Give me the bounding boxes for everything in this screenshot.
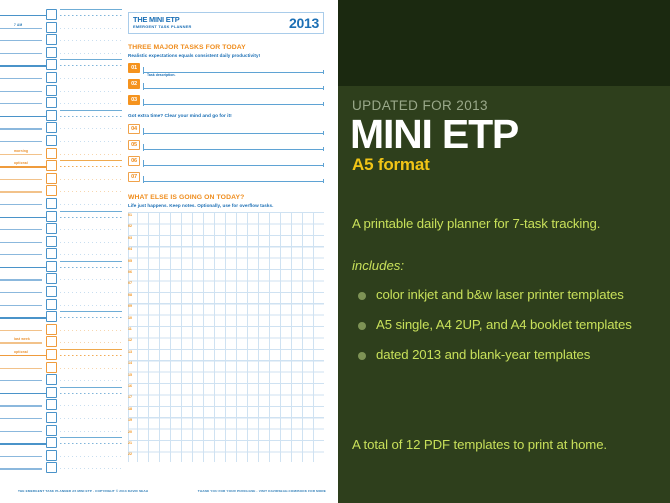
time-row	[0, 86, 122, 99]
time-dash-line	[60, 229, 122, 230]
time-checkbox[interactable]	[46, 336, 57, 347]
time-tick	[0, 217, 48, 218]
time-tick	[0, 342, 42, 343]
time-tick	[0, 405, 42, 406]
time-tick	[0, 65, 48, 66]
time-dash-line	[60, 431, 122, 432]
time-checkbox[interactable]	[46, 110, 57, 121]
task-write-line[interactable]	[143, 88, 324, 89]
time-row	[0, 35, 122, 48]
grid-line-number: 12	[128, 338, 132, 342]
time-tick	[0, 78, 42, 79]
time-tick	[0, 317, 48, 318]
time-checkbox[interactable]	[46, 211, 57, 222]
time-row	[0, 388, 122, 401]
time-tick	[0, 443, 48, 444]
time-dash-line	[60, 393, 122, 394]
time-tick	[0, 431, 42, 432]
time-tick	[0, 53, 42, 54]
feature-list-item: dated 2013 and blank-year templates	[352, 346, 658, 363]
grid-line-number: 11	[128, 327, 132, 331]
time-dash-line	[60, 330, 122, 331]
time-checkbox[interactable]	[46, 148, 57, 159]
grid-line-number: 05	[128, 259, 132, 263]
time-dash-line	[60, 380, 122, 381]
time-hour-rule	[60, 110, 122, 111]
time-tick	[0, 418, 42, 419]
feature-list-item-label: A5 single, A4 2UP, and A4 booklet templa…	[376, 316, 658, 333]
time-row	[0, 451, 122, 464]
time-row-label: morning	[14, 149, 28, 153]
time-row	[0, 174, 122, 187]
time-checkbox[interactable]	[46, 72, 57, 83]
time-dash-line	[60, 103, 122, 104]
task-number: 05	[128, 140, 140, 150]
time-checkbox[interactable]	[46, 223, 57, 234]
time-dash-line	[60, 78, 122, 79]
time-tick	[0, 368, 42, 369]
task-row: 05	[128, 140, 324, 156]
task-write-line[interactable]	[143, 104, 324, 105]
task-row: 06	[128, 156, 324, 172]
time-checkbox[interactable]	[46, 374, 57, 385]
time-tick	[0, 191, 42, 192]
time-row	[0, 224, 122, 237]
time-row-label: 7 AM	[14, 23, 22, 27]
time-row-label: optional	[14, 350, 28, 354]
time-dash-line	[60, 443, 122, 444]
time-checkbox[interactable]	[46, 34, 57, 45]
time-row	[0, 312, 122, 325]
task-row: 04	[128, 124, 324, 140]
time-tick	[0, 330, 42, 331]
notes-subheading: Life just happens. Keep notes. Optionall…	[128, 203, 324, 209]
time-row	[0, 123, 122, 136]
time-tick	[0, 242, 42, 243]
notes-heading-group: WHAT ELSE IS GOING ON TODAY? Life just h…	[128, 194, 324, 209]
time-dash-line	[60, 91, 122, 92]
time-row	[0, 10, 122, 23]
time-dash-line	[60, 342, 122, 343]
time-tick	[0, 380, 42, 381]
task-row: 07	[128, 172, 324, 188]
time-dash-line	[60, 217, 122, 218]
time-tick	[0, 292, 42, 293]
task-row: 01Task description.	[128, 63, 324, 79]
time-checkbox[interactable]	[46, 286, 57, 297]
time-checkbox[interactable]	[46, 425, 57, 436]
time-row	[0, 438, 122, 451]
time-checkbox[interactable]	[46, 135, 57, 146]
time-row	[0, 400, 122, 413]
time-dash-line	[60, 15, 122, 16]
time-dash-line	[60, 128, 122, 129]
time-dash-line	[60, 179, 122, 180]
time-dash-line	[60, 65, 122, 66]
time-dash-line	[60, 204, 122, 205]
time-checkbox[interactable]	[46, 450, 57, 461]
time-row-label: optional	[14, 161, 28, 165]
task-number: 01	[128, 63, 140, 73]
feature-list-item: A5 single, A4 2UP, and A4 booklet templa…	[352, 316, 658, 333]
task-number: 02	[128, 79, 140, 89]
extra-time-note: Got extra time? Clear your mind and go f…	[128, 114, 324, 120]
time-dash-line	[60, 355, 122, 356]
screenshot-root: 7 AMmorningoptionallast weekoptional THE…	[0, 0, 670, 503]
bullet-dot-icon	[358, 322, 366, 330]
panel-tagline: A printable daily planner for 7-task tra…	[352, 216, 600, 231]
planner-task-column: THE MINI ETP EMERGENT TASK PLANNER 2013 …	[128, 12, 324, 462]
time-hour-rule	[60, 261, 122, 262]
time-checkbox[interactable]	[46, 311, 57, 322]
time-tick	[0, 254, 42, 255]
major-tasks-heading-group: THREE MAJOR TASKS FOR TODAY Realistic ex…	[128, 44, 324, 59]
time-hour-rule	[60, 9, 122, 10]
time-tick	[0, 166, 48, 167]
time-tick	[0, 15, 48, 16]
time-tick	[0, 128, 42, 129]
grid-line-number: 16	[128, 384, 132, 388]
time-checkbox[interactable]	[46, 261, 57, 272]
panel-top-band	[338, 0, 670, 86]
time-tick	[0, 28, 42, 29]
time-dash-line	[60, 254, 122, 255]
time-row	[0, 136, 122, 149]
time-hour-rule	[60, 387, 122, 388]
time-checkbox[interactable]	[46, 59, 57, 70]
time-dash-line	[60, 317, 122, 318]
time-checkbox-column: 7 AMmorningoptionallast weekoptional	[0, 10, 122, 488]
time-hour-rule	[60, 59, 122, 60]
panel-includes-label: includes:	[352, 258, 404, 273]
planner-footer-right: THANK YOU FOR YOUR PURCHASE · VISIT DAVI…	[198, 489, 326, 493]
notes-dot-grid: 0102030405060708091011121314151617181920…	[128, 212, 324, 462]
time-tick	[0, 393, 48, 394]
major-tasks-heading: THREE MAJOR TASKS FOR TODAY	[128, 44, 324, 52]
time-dash-line	[60, 40, 122, 41]
panel-title: MINI ETP	[350, 112, 518, 156]
time-checkbox[interactable]	[46, 387, 57, 398]
time-checkbox[interactable]	[46, 324, 57, 335]
grid-line-number: 07	[128, 281, 132, 285]
planner-footer: THE EMERGENT TASK PLANNER A5 MINI ETP · …	[18, 487, 326, 495]
time-tick	[0, 279, 42, 280]
time-row: 7 AM	[0, 23, 122, 36]
grid-line-number: 08	[128, 293, 132, 297]
time-row	[0, 463, 122, 476]
time-tick	[0, 267, 48, 268]
grid-line-number: 20	[128, 430, 132, 434]
planner-footer-left: THE EMERGENT TASK PLANNER A5 MINI ETP · …	[18, 489, 148, 493]
grid-line-number: 14	[128, 361, 132, 365]
task-write-line[interactable]	[143, 133, 324, 134]
time-row: optional	[0, 350, 122, 363]
time-row	[0, 60, 122, 73]
task-number: 03	[128, 95, 140, 105]
time-tick	[0, 456, 42, 457]
product-info-panel: UPDATED FOR 2013 MINI ETP A5 format A pr…	[338, 0, 670, 503]
time-checkbox[interactable]	[46, 349, 57, 360]
grid-line-number: 21	[128, 441, 132, 445]
time-checkbox[interactable]	[46, 236, 57, 247]
time-row	[0, 237, 122, 250]
time-row	[0, 325, 122, 338]
time-checkbox[interactable]	[46, 160, 57, 171]
time-checkbox[interactable]	[46, 173, 57, 184]
time-dash-line	[60, 468, 122, 469]
grid-line-number: 06	[128, 270, 132, 274]
time-tick	[0, 91, 42, 92]
time-tick	[0, 179, 42, 180]
time-checkbox[interactable]	[46, 198, 57, 209]
notes-heading: WHAT ELSE IS GOING ON TODAY?	[128, 194, 324, 202]
time-dash-line	[60, 28, 122, 29]
time-hour-rule	[60, 211, 122, 212]
task-write-line[interactable]	[143, 181, 324, 182]
time-checkbox[interactable]	[46, 399, 57, 410]
time-row	[0, 413, 122, 426]
grid-line-number: 02	[128, 224, 132, 228]
time-row	[0, 186, 122, 199]
feature-list-item-label: dated 2013 and blank-year templates	[376, 346, 658, 363]
time-checkbox[interactable]	[46, 47, 57, 58]
time-dash-line	[60, 368, 122, 369]
time-dash-line	[60, 53, 122, 54]
time-checkbox[interactable]	[46, 85, 57, 96]
time-tick	[0, 154, 42, 155]
time-checkbox[interactable]	[46, 437, 57, 448]
time-dash-line	[60, 166, 122, 167]
bullet-dot-icon	[358, 352, 366, 360]
time-dash-line	[60, 191, 122, 192]
time-dash-line	[60, 456, 122, 457]
time-row: optional	[0, 161, 122, 174]
bullet-dot-icon	[358, 292, 366, 300]
time-tick	[0, 229, 42, 230]
time-checkbox[interactable]	[46, 412, 57, 423]
time-row	[0, 73, 122, 86]
grid-line-number: 18	[128, 407, 132, 411]
grid-line-number: 17	[128, 395, 132, 399]
overflow-task-rows: 04050607	[128, 124, 324, 188]
time-dash-line	[60, 116, 122, 117]
time-tick	[0, 468, 42, 469]
task-number: 04	[128, 124, 140, 134]
time-dash-line	[60, 418, 122, 419]
time-tick	[0, 355, 48, 356]
grid-line-number: 09	[128, 304, 132, 308]
time-checkbox[interactable]	[46, 362, 57, 373]
panel-subtitle: A5 format	[352, 155, 430, 175]
task-write-line[interactable]	[143, 165, 324, 166]
task-write-line[interactable]	[143, 149, 324, 150]
time-checkbox[interactable]	[46, 462, 57, 473]
time-checkbox[interactable]	[46, 248, 57, 259]
planner-brand-title: THE MINI ETP	[133, 16, 195, 24]
time-hour-rule	[60, 160, 122, 161]
task-description-hint: Task description.	[147, 73, 176, 77]
time-dash-line	[60, 141, 122, 142]
task-row: 03	[128, 95, 324, 111]
grid-line-number: 03	[128, 236, 132, 240]
time-tick	[0, 204, 42, 205]
task-number: 07	[128, 172, 140, 182]
grid-line-number: 22	[128, 452, 132, 456]
time-dash-line	[60, 279, 122, 280]
major-task-rows: 01Task description.0203	[128, 63, 324, 111]
time-tick	[0, 116, 48, 117]
time-checkbox[interactable]	[46, 185, 57, 196]
time-row	[0, 111, 122, 124]
time-row	[0, 262, 122, 275]
time-dash-line	[60, 154, 122, 155]
time-row	[0, 274, 122, 287]
time-dash-line	[60, 242, 122, 243]
time-checkbox[interactable]	[46, 97, 57, 108]
planner-title-band: THE MINI ETP EMERGENT TASK PLANNER 2013	[128, 12, 324, 34]
time-dash-line	[60, 292, 122, 293]
major-tasks-subheading: Realistic expectations equals consistent…	[128, 53, 324, 59]
time-dash-line	[60, 405, 122, 406]
panel-feature-list: color inkjet and b&w laser printer templ…	[352, 286, 658, 376]
panel-total-note: A total of 12 PDF templates to print at …	[352, 437, 607, 452]
time-hour-rule	[60, 437, 122, 438]
time-hour-rule	[60, 349, 122, 350]
planner-page-preview: 7 AMmorningoptionallast weekoptional THE…	[0, 0, 338, 503]
task-number: 06	[128, 156, 140, 166]
time-tick	[0, 103, 42, 104]
time-hour-rule	[60, 311, 122, 312]
grid-line-number: 15	[128, 373, 132, 377]
time-tick	[0, 40, 42, 41]
time-checkbox[interactable]	[46, 22, 57, 33]
time-dash-line	[60, 267, 122, 268]
time-checkbox[interactable]	[46, 299, 57, 310]
grid-line-number: 01	[128, 213, 132, 217]
time-checkbox[interactable]	[46, 9, 57, 20]
time-tick	[0, 141, 42, 142]
time-dash-line	[60, 305, 122, 306]
time-row	[0, 212, 122, 225]
grid-line-number: 19	[128, 418, 132, 422]
time-checkbox[interactable]	[46, 122, 57, 133]
grid-line-number: 10	[128, 316, 132, 320]
feature-list-item-label: color inkjet and b&w laser printer templ…	[376, 286, 658, 303]
time-checkbox[interactable]	[46, 273, 57, 284]
time-row	[0, 287, 122, 300]
planner-brand: THE MINI ETP EMERGENT TASK PLANNER	[129, 13, 195, 33]
grid-line-number: 04	[128, 247, 132, 251]
planner-brand-subtitle: EMERGENT TASK PLANNER	[133, 24, 195, 29]
time-row-label: last week	[14, 337, 30, 341]
time-row	[0, 363, 122, 376]
feature-list-item: color inkjet and b&w laser printer templ…	[352, 286, 658, 303]
task-row: 02	[128, 79, 324, 95]
planner-year: 2013	[195, 13, 323, 33]
grid-line-number: 13	[128, 350, 132, 354]
time-tick	[0, 305, 42, 306]
